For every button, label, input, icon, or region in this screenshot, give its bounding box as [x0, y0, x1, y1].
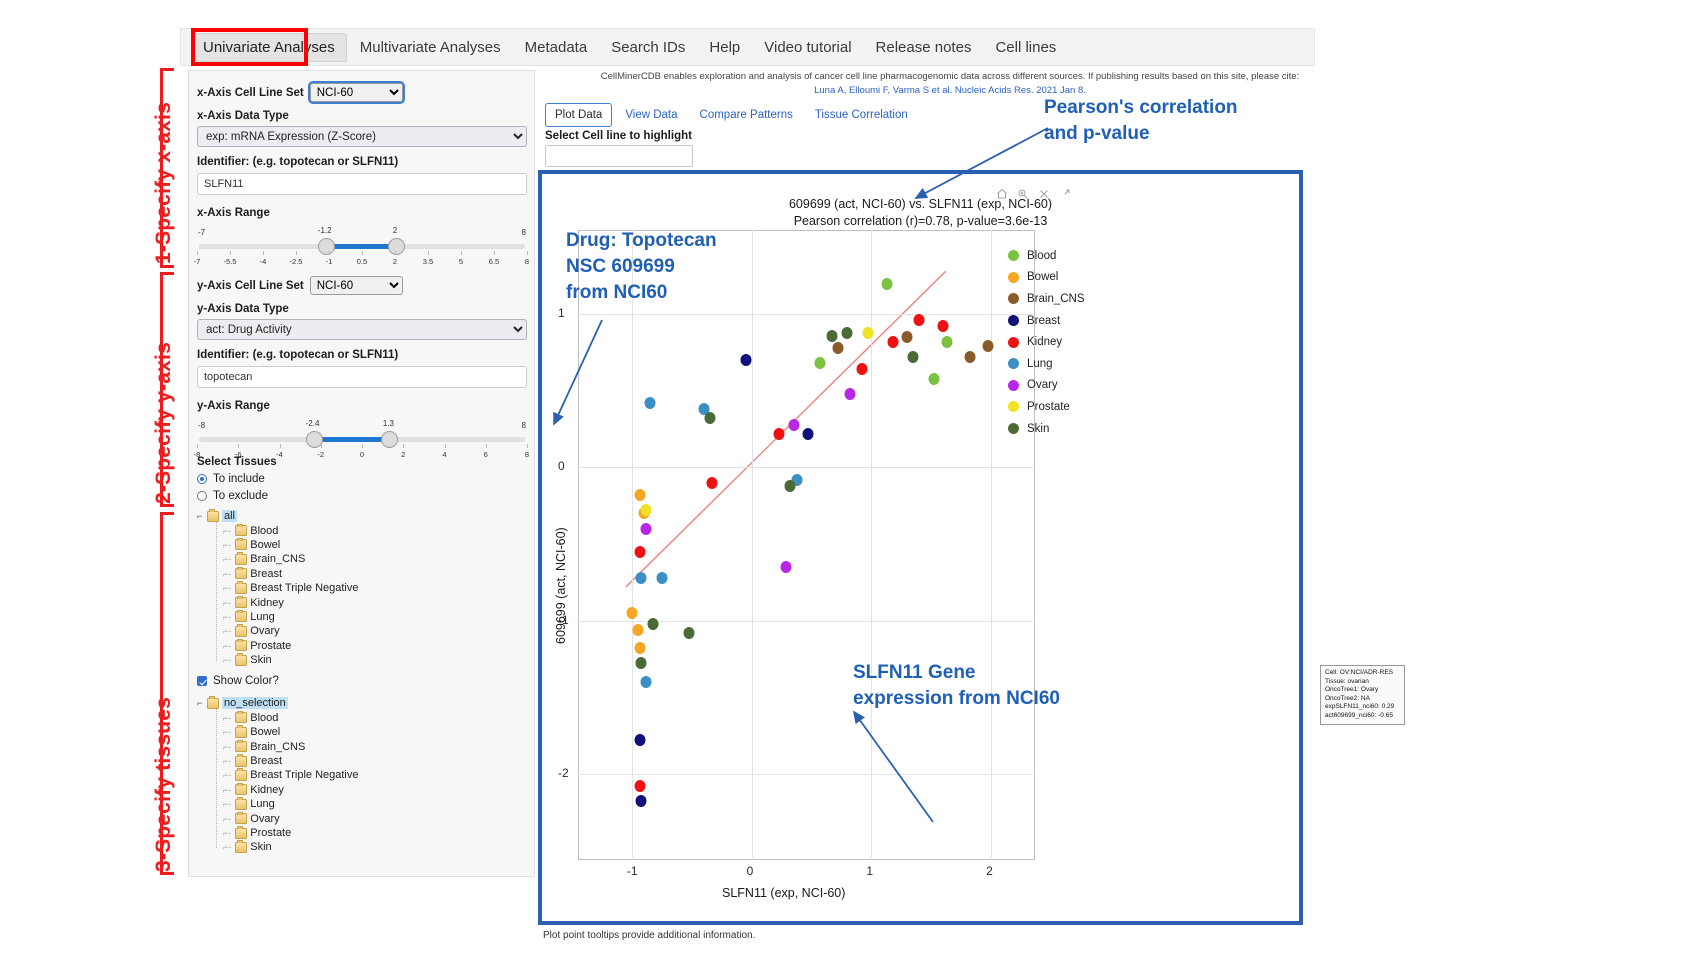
x-range-min-label: -7	[198, 228, 205, 237]
nav-item-video-tutorial[interactable]: Video tutorial	[753, 34, 862, 61]
annotation-gene-arrow	[838, 700, 948, 830]
x-identifier-input[interactable]	[197, 173, 527, 195]
y-gridline	[578, 621, 1033, 622]
tree-item-label: Breast	[250, 568, 282, 580]
y-cellline-label: y-Axis Cell Line Set	[197, 280, 304, 292]
folder-icon	[235, 611, 247, 622]
tree-item-label: Blood	[250, 712, 278, 724]
scatter-point[interactable]	[887, 336, 898, 348]
tree-connector-icon: ⌐-	[223, 742, 231, 752]
include-tree-item-blood[interactable]: ⌐-Blood	[197, 523, 527, 537]
slider-tickmark	[461, 251, 462, 255]
tree-connector-icon: ⌐-	[223, 799, 231, 809]
tree-item-label: Brain_CNS	[250, 741, 305, 753]
tree-connector-icon: ⌐-	[223, 612, 231, 622]
scatter-point[interactable]	[842, 327, 853, 339]
x-slider-fill	[325, 244, 395, 249]
control-panel: x-Axis Cell Line Set NCI-60 x-Axis Data …	[188, 70, 535, 877]
legend-color-swatch	[1008, 250, 1019, 261]
slider-tickmark	[527, 444, 528, 448]
folder-icon	[235, 756, 247, 767]
legend-label: Brain_CNS	[1027, 293, 1085, 305]
nav-item-univariate-analyses[interactable]: Univariate Analyses	[191, 33, 347, 62]
legend-label: Prostate	[1027, 401, 1070, 413]
subtab-plot-data[interactable]: Plot Data	[545, 103, 612, 127]
radio-include-label: To include	[213, 473, 265, 485]
scatter-point[interactable]	[707, 477, 718, 489]
legend-color-swatch	[1008, 380, 1019, 391]
include-tree-root[interactable]: ⌐all	[197, 509, 527, 523]
slider-tick-label: 3.5	[423, 257, 433, 266]
scatter-point[interactable]	[648, 618, 659, 630]
highlight-cellline-label: Select Cell line to highlight	[545, 130, 692, 142]
highlight-cellline-input[interactable]	[545, 145, 693, 167]
scatter-point[interactable]	[881, 278, 892, 290]
tree-connector-icon: ⌐-	[223, 655, 231, 665]
tree-connector-icon: ⌐-	[223, 583, 231, 593]
slider-tickmark	[428, 251, 429, 255]
scatter-point[interactable]	[635, 780, 646, 792]
plot-legend: BloodBowelBrain_CNSBreastKidneyLungOvary…	[1008, 245, 1085, 439]
tree-item-label: Prostate	[250, 640, 291, 652]
slider-tickmark	[494, 251, 495, 255]
annotation-gene-line1: SLFN11 Gene	[853, 660, 1060, 686]
slider-tick-label: -1	[326, 257, 333, 266]
folder-icon	[235, 525, 247, 536]
legend-item-prostate[interactable]: Prostate	[1008, 396, 1085, 418]
scatter-point[interactable]	[814, 357, 825, 369]
tree-expander-icon[interactable]: ⌐	[197, 698, 202, 708]
y-tick-label: 0	[558, 459, 565, 473]
radio-include-icon	[197, 474, 207, 484]
select-tissues-title: Select Tissues	[197, 456, 527, 468]
y-slider-high-value: 1.3	[383, 419, 394, 428]
step-label-y: 2-Specify y-axis	[152, 342, 176, 504]
x-range-max-label: 8	[522, 228, 526, 237]
slider-tickmark	[238, 444, 239, 448]
x-cellline-label: x-Axis Cell Line Set	[197, 87, 304, 99]
scatter-point[interactable]	[632, 624, 643, 636]
y-gridline	[578, 467, 1033, 468]
slider-tickmark	[445, 444, 446, 448]
scatter-point[interactable]	[626, 607, 637, 619]
legend-color-swatch	[1008, 272, 1019, 283]
tissue-tree-exclude[interactable]: ⌐no_selection⌐-Blood⌐-Bowel⌐-Brain_CNS⌐-…	[197, 696, 527, 854]
tree-connector-icon: ⌐-	[223, 526, 231, 536]
y-slider-low-value: -2.4	[306, 419, 320, 428]
tree-item-label: Skin	[250, 841, 271, 853]
nav-items: Univariate AnalysesMultivariate Analyses…	[181, 29, 1314, 65]
x-tick-label: 1	[866, 864, 873, 878]
plot-footer-note: Plot point tooltips provide additional i…	[543, 930, 755, 941]
exclude-tree-item-blood[interactable]: ⌐-Blood	[197, 711, 527, 725]
scatter-point[interactable]	[635, 489, 646, 501]
exclude-tree-item-kidney[interactable]: ⌐-Kidney	[197, 783, 527, 797]
slider-tickmark	[230, 251, 231, 255]
nav-item-search-ids[interactable]: Search IDs	[600, 34, 696, 61]
slider-tick-label: -2.5	[290, 257, 303, 266]
nav-item-multivariate-analyses[interactable]: Multivariate Analyses	[349, 34, 512, 61]
scatter-point[interactable]	[641, 523, 652, 535]
tree-item-label: Blood	[250, 525, 278, 537]
x-gridline	[991, 230, 992, 858]
tree-item-label: Kidney	[250, 597, 284, 609]
slider-tickmark	[362, 251, 363, 255]
folder-icon	[235, 727, 247, 738]
tree-connector-icon: ⌐-	[223, 713, 231, 723]
show-color-row[interactable]: Show Color?	[197, 675, 527, 687]
y-range-label: y-Axis Range	[197, 400, 527, 412]
tree-connector-icon: ⌐-	[223, 842, 231, 852]
folder-icon	[235, 842, 247, 853]
folder-icon	[235, 568, 247, 579]
scatter-point[interactable]	[704, 412, 715, 424]
tissue-tree-include[interactable]: ⌐all⌐-Blood⌐-Bowel⌐-Brain_CNS⌐-Breast⌐-B…	[197, 509, 527, 667]
y-datatype-label: y-Axis Data Type	[197, 303, 527, 315]
slider-tickmark	[362, 444, 363, 448]
x-datatype-label: x-Axis Data Type	[197, 110, 527, 122]
slider-tick-label: 5	[459, 257, 463, 266]
subtab-compare-patterns[interactable]: Compare Patterns	[691, 104, 802, 126]
tooltip-line: Tissue: ovarian	[1325, 678, 1400, 687]
include-tree-item-kidney[interactable]: ⌐-Kidney	[197, 595, 527, 609]
x-gridline	[752, 230, 753, 858]
tree-item-label: Brain_CNS	[250, 553, 305, 565]
exclude-tree-item-lung[interactable]: ⌐-Lung	[197, 797, 527, 811]
radio-to-include[interactable]: To include	[197, 473, 527, 485]
autoscale-icon[interactable]	[1059, 188, 1071, 200]
y-tick-label: -1	[558, 613, 569, 627]
legend-color-swatch	[1008, 293, 1019, 304]
folder-icon	[235, 712, 247, 723]
folder-icon	[207, 511, 219, 522]
annotation-drug-line3: from NCI60	[566, 280, 717, 306]
nav-item-cell-lines[interactable]: Cell lines	[984, 34, 1067, 61]
y-range-min-label: -8	[198, 421, 205, 430]
tree-item-label: Kidney	[250, 784, 284, 796]
citation-block: CellMinerCDB enables exploration and ana…	[600, 70, 1300, 98]
legend-item-bowel[interactable]: Bowel	[1008, 267, 1085, 289]
citation-line-1: CellMinerCDB enables exploration and ana…	[600, 70, 1300, 84]
tooltip-line: OncoTree2: NA	[1325, 695, 1400, 704]
slider-tickmark	[280, 444, 281, 448]
slider-tickmark	[486, 444, 487, 448]
y-slider-fill	[313, 437, 389, 442]
legend-item-brain-cns[interactable]: Brain_CNS	[1008, 288, 1085, 310]
scatter-point[interactable]	[641, 676, 652, 688]
legend-label: Ovary	[1027, 379, 1058, 391]
include-tree-item-breast[interactable]: ⌐-Breast	[197, 567, 527, 581]
scatter-point[interactable]	[914, 314, 925, 326]
x-cellline-select[interactable]: NCI-60	[310, 83, 403, 102]
folder-icon	[235, 640, 247, 651]
slider-tickmark	[395, 251, 396, 255]
tree-connector-icon: ⌐-	[223, 770, 231, 780]
radio-to-exclude[interactable]: To exclude	[197, 490, 527, 502]
exclude-tree-item-breast-triple-negative[interactable]: ⌐-Breast Triple Negative	[197, 768, 527, 782]
radio-exclude-icon	[197, 491, 207, 501]
folder-icon	[235, 741, 247, 752]
scatter-point[interactable]	[635, 642, 646, 654]
legend-label: Kidney	[1027, 336, 1062, 348]
scatter-point[interactable]	[941, 336, 952, 348]
tree-connector-icon: ⌐-	[223, 727, 231, 737]
scatter-point[interactable]	[832, 342, 843, 354]
include-tree-item-skin[interactable]: ⌐-Skin	[197, 653, 527, 667]
tree-item-label: Lung	[250, 798, 274, 810]
exclude-tree-item-ovary[interactable]: ⌐-Ovary	[197, 811, 527, 825]
legend-color-swatch	[1008, 358, 1019, 369]
scatter-point[interactable]	[684, 627, 695, 639]
slider-tick-label: 8	[525, 257, 529, 266]
scatter-point[interactable]	[635, 546, 646, 558]
include-tree-item-lung[interactable]: ⌐-Lung	[197, 610, 527, 624]
y-gridline	[578, 774, 1033, 775]
tree-item-label: Lung	[250, 611, 274, 623]
tree-connector-icon: ⌐-	[223, 540, 231, 550]
folder-icon	[235, 784, 247, 795]
tree-item-label: Bowel	[250, 539, 280, 551]
tree-item-label: Skin	[250, 654, 271, 666]
exclude-tree-item-bowel[interactable]: ⌐-Bowel	[197, 725, 527, 739]
legend-color-swatch	[1008, 337, 1019, 348]
slider-tickmark	[403, 444, 404, 448]
legend-color-swatch	[1008, 315, 1019, 326]
tree-root-label: no_selection	[222, 697, 288, 709]
y-cellline-select[interactable]: NCI-60	[310, 276, 403, 295]
folder-icon	[235, 770, 247, 781]
scatter-point[interactable]	[781, 561, 792, 573]
slider-tick-label: 6.5	[489, 257, 499, 266]
legend-color-swatch	[1008, 423, 1019, 434]
scatter-point[interactable]	[826, 330, 837, 342]
include-tree-item-ovary[interactable]: ⌐-Ovary	[197, 624, 527, 638]
folder-icon	[235, 828, 247, 839]
y-tick-label: -2	[558, 766, 569, 780]
scatter-point[interactable]	[788, 419, 799, 431]
slider-tickmark	[197, 444, 198, 448]
step-label-tissues: 3-Specify tissues	[152, 697, 176, 872]
show-color-checkbox[interactable]	[197, 676, 207, 686]
legend-label: Blood	[1027, 250, 1056, 262]
annotation-drug: Drug: Topotecan NSC 609699 from NCI60	[566, 228, 717, 306]
slider-tick-label: -7	[194, 257, 201, 266]
tree-item-label: Breast Triple Negative	[250, 769, 358, 781]
tree-connector-icon: ⌐-	[223, 828, 231, 838]
x-tick-label: 0	[747, 864, 754, 878]
annotation-drug-arrow	[540, 316, 610, 436]
x-range-slider[interactable]: -7 8 -1.2 2 -7-5.5-4-2.5-10.523.556.58	[197, 226, 527, 270]
scatter-point[interactable]	[636, 572, 647, 584]
x-gridline	[632, 230, 633, 858]
folder-icon	[235, 655, 247, 666]
folder-icon	[207, 698, 219, 709]
include-tree-item-prostate[interactable]: ⌐-Prostate	[197, 639, 527, 653]
tree-item-label: Breast	[250, 755, 282, 767]
plot-subtabs: Plot DataView DataCompare PatternsTissue…	[545, 103, 917, 127]
tree-item-label: Breast Triple Negative	[250, 582, 358, 594]
x-datatype-select[interactable]: exp: mRNA Expression (Z-Score)	[197, 126, 527, 147]
x-slider-low-value: -1.2	[318, 226, 332, 235]
x-identifier-label: Identifier: (e.g. topotecan or SLFN11)	[197, 156, 527, 168]
scatter-point[interactable]	[928, 373, 939, 385]
scatter-point[interactable]	[802, 428, 813, 440]
scatter-point[interactable]	[908, 351, 919, 363]
tree-connector-icon: ⌐-	[223, 626, 231, 636]
annotation-drug-line1: Drug: Topotecan	[566, 228, 717, 254]
x-slider-ticks: -7-5.5-4-2.5-10.523.556.58	[197, 251, 527, 267]
tree-connector-icon: ⌐-	[223, 641, 231, 651]
legend-label: Skin	[1027, 423, 1049, 435]
show-color-label: Show Color?	[213, 675, 279, 687]
legend-item-kidney[interactable]: Kidney	[1008, 331, 1085, 353]
scatter-point[interactable]	[964, 351, 975, 363]
main-navbar: Univariate AnalysesMultivariate Analyses…	[180, 28, 1315, 66]
tree-item-label: Bowel	[250, 726, 280, 738]
tree-item-label: Prostate	[250, 827, 291, 839]
tooltip-line: Cell: OV:NCI/ADR-RES	[1325, 669, 1400, 678]
slider-tickmark	[296, 251, 297, 255]
y-datatype-select[interactable]: act: Drug Activity	[197, 319, 527, 340]
plot-canvas[interactable]	[578, 230, 1033, 858]
slider-tickmark	[263, 251, 264, 255]
exclude-tree-item-brain-cns[interactable]: ⌐-Brain_CNS	[197, 739, 527, 753]
nav-item-help[interactable]: Help	[698, 34, 751, 61]
radio-exclude-label: To exclude	[213, 490, 268, 502]
scatter-point[interactable]	[902, 331, 913, 343]
include-tree-item-breast-triple-negative[interactable]: ⌐-Breast Triple Negative	[197, 581, 527, 595]
legend-item-skin[interactable]: Skin	[1008, 418, 1085, 440]
legend-label: Lung	[1027, 358, 1053, 370]
annotation-pearson-line2: and p-value	[1044, 121, 1238, 147]
tree-root-label: all	[222, 510, 237, 522]
legend-item-ovary[interactable]: Ovary	[1008, 375, 1085, 397]
y-cellline-row: y-Axis Cell Line Set NCI-60	[197, 276, 527, 295]
subtab-view-data[interactable]: View Data	[616, 104, 686, 126]
y-range-max-label: 8	[522, 421, 526, 430]
x-range-label: x-Axis Range	[197, 207, 527, 219]
exclude-tree-item-breast[interactable]: ⌐-Breast	[197, 754, 527, 768]
scatter-point[interactable]	[636, 657, 647, 669]
nav-item-metadata[interactable]: Metadata	[514, 34, 599, 61]
x-tick-label: 2	[986, 864, 993, 878]
legend-label: Bowel	[1027, 271, 1058, 283]
legend-item-blood[interactable]: Blood	[1008, 245, 1085, 267]
tree-expander-icon[interactable]: ⌐	[197, 511, 202, 521]
x-cellline-row: x-Axis Cell Line Set NCI-60	[197, 83, 527, 102]
scatter-point[interactable]	[982, 340, 993, 352]
legend-item-lung[interactable]: Lung	[1008, 353, 1085, 375]
exclude-tree-root[interactable]: ⌐no_selection	[197, 696, 527, 710]
scatter-point[interactable]	[844, 388, 855, 400]
legend-color-swatch	[1008, 401, 1019, 412]
slider-tick-label: 0.5	[357, 257, 367, 266]
annotation-pearson-line1: Pearson's correlation	[1044, 95, 1238, 121]
tree-connector-icon: ⌐-	[223, 569, 231, 579]
tooltip-line: OncoTree1: Ovary	[1325, 686, 1400, 695]
slider-tickmark	[329, 251, 330, 255]
scatter-point[interactable]	[862, 327, 873, 339]
folder-icon	[235, 813, 247, 824]
legend-item-breast[interactable]: Breast	[1008, 310, 1085, 332]
tree-item-label: Ovary	[250, 625, 279, 637]
x-tick-label: -1	[627, 864, 638, 878]
exclude-tree-item-skin[interactable]: ⌐-Skin	[197, 840, 527, 854]
tree-item-label: Ovary	[250, 813, 279, 825]
exclude-tree-item-prostate[interactable]: ⌐-Prostate	[197, 826, 527, 840]
point-tooltip: Cell: OV:NCI/ADR-RESTissue: ovarianOncoT…	[1320, 665, 1405, 725]
scatter-point[interactable]	[740, 354, 751, 366]
include-tree-item-brain-cns[interactable]: ⌐-Brain_CNS	[197, 552, 527, 566]
step-label-x: 1-Specify x-axis	[152, 102, 176, 264]
folder-icon	[235, 626, 247, 637]
tree-connector-icon: ⌐-	[223, 554, 231, 564]
x-slider-high-value: 2	[393, 226, 397, 235]
scatter-point[interactable]	[856, 363, 867, 375]
tooltip-line: expSLFN11_nci60: 0.29	[1325, 703, 1400, 712]
tree-connector-icon: ⌐-	[223, 785, 231, 795]
folder-icon	[235, 539, 247, 550]
scatter-point[interactable]	[636, 795, 647, 807]
tooltip-line: act609699_nci60: -0.65	[1325, 712, 1400, 721]
scatter-point[interactable]	[635, 734, 646, 746]
scatter-point[interactable]	[938, 320, 949, 332]
y-gridline	[578, 314, 1033, 315]
annotation-pearson: Pearson's correlation and p-value	[1044, 95, 1238, 147]
slider-tick-label: 2	[393, 257, 397, 266]
folder-icon	[235, 554, 247, 565]
tree-connector-icon: ⌐-	[223, 598, 231, 608]
nav-item-release-notes[interactable]: Release notes	[865, 34, 983, 61]
regression-line	[578, 230, 1033, 858]
x-axis-title: SLFN11 (exp, NCI-60)	[722, 886, 845, 900]
slider-tickmark	[197, 251, 198, 255]
folder-icon	[235, 597, 247, 608]
annotation-drug-line2: NSC 609699	[566, 254, 717, 280]
annotation-pearson-arrow	[900, 120, 1060, 210]
slider-tickmark	[321, 444, 322, 448]
scatter-point[interactable]	[644, 397, 655, 409]
scatter-point[interactable]	[641, 504, 652, 516]
y-identifier-label: Identifier: (e.g. topotecan or SLFN11)	[197, 349, 527, 361]
include-tree-item-bowel[interactable]: ⌐-Bowel	[197, 538, 527, 552]
slider-tick-label: -5.5	[224, 257, 237, 266]
y-identifier-input[interactable]	[197, 366, 527, 388]
folder-icon	[235, 799, 247, 810]
tree-connector-icon: ⌐-	[223, 814, 231, 824]
scatter-point[interactable]	[656, 572, 667, 584]
scatter-point[interactable]	[774, 428, 785, 440]
folder-icon	[235, 583, 247, 594]
tree-connector-icon: ⌐-	[223, 756, 231, 766]
scatter-point[interactable]	[784, 480, 795, 492]
slider-tickmark	[527, 251, 528, 255]
slider-tick-label: -4	[260, 257, 267, 266]
legend-label: Breast	[1027, 315, 1060, 327]
